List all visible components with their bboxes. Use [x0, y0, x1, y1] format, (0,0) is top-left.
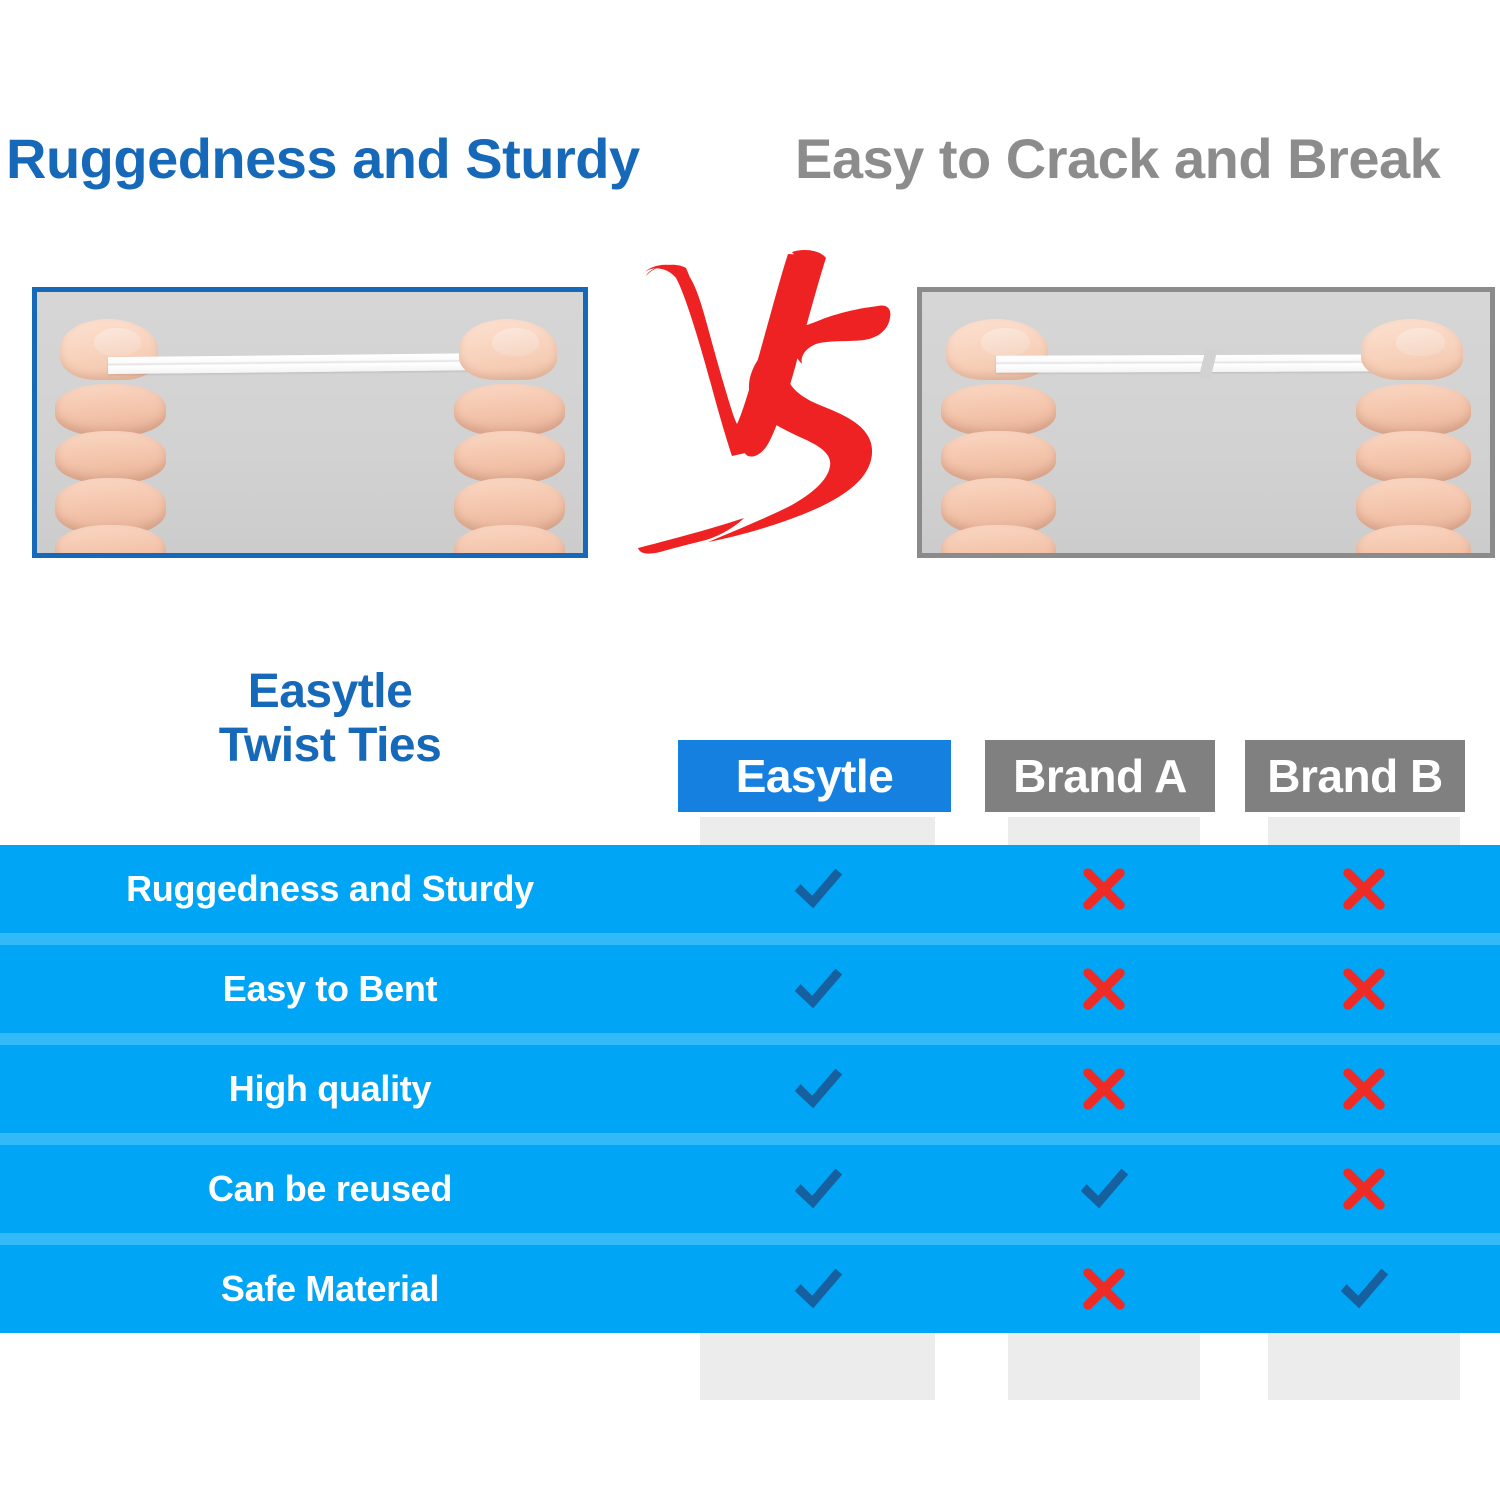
cross-icon-brand-b	[1268, 845, 1460, 933]
check-icon-brand-a	[1008, 1145, 1200, 1233]
cross-icon-brand-b	[1268, 1145, 1460, 1233]
cross-icon-brand-a	[1008, 845, 1200, 933]
heading-left: Ruggedness and Sturdy	[6, 126, 640, 191]
feature-label: Ruggedness and Sturdy	[0, 845, 660, 933]
comparison-infographic: Ruggedness and Sturdy Easy to Crack and …	[0, 0, 1500, 1500]
row-separator	[0, 1133, 1500, 1145]
versus-badge	[620, 248, 910, 558]
knuckle-icon	[1356, 431, 1471, 483]
check-icon-easytle	[700, 1245, 935, 1333]
comparison-table: Ruggedness and SturdyEasy to BentHigh qu…	[0, 735, 1500, 1405]
fingernail-icon	[94, 328, 141, 356]
thumb-icon	[459, 319, 557, 380]
check-icon-easytle	[700, 845, 935, 933]
fingernail-icon	[1396, 328, 1445, 356]
knuckle-icon	[941, 384, 1056, 436]
knuckle-icon	[1356, 525, 1471, 558]
knuckle-icon	[941, 431, 1056, 483]
feature-label: Easy to Bent	[0, 945, 660, 1033]
right-hand-icon	[447, 323, 573, 558]
knuckle-icon	[454, 384, 565, 436]
cross-icon-brand-a	[1008, 1045, 1200, 1133]
column-header-brand-b: Brand B	[1245, 740, 1465, 812]
knuckle-icon	[454, 431, 565, 483]
knuckle-icon	[55, 431, 166, 483]
feature-label: Can be reused	[0, 1145, 660, 1233]
cross-icon-brand-a	[1008, 1245, 1200, 1333]
check-icon-easytle	[700, 1045, 935, 1133]
cross-icon-brand-b	[1268, 945, 1460, 1033]
knuckle-icon	[1356, 384, 1471, 436]
column-header-brand-a: Brand A	[985, 740, 1215, 812]
check-icon-easytle	[700, 945, 935, 1033]
heading-right: Easy to Crack and Break	[795, 126, 1440, 191]
photo-intact-twist-tie	[32, 287, 588, 558]
feature-label: High quality	[0, 1045, 660, 1133]
column-header-easytle: Easytle	[678, 740, 951, 812]
product-title-line1: Easytle	[0, 665, 660, 719]
knuckle-icon	[55, 525, 166, 558]
row-separator	[0, 1233, 1500, 1245]
photo-broken-twist-tie	[917, 287, 1495, 558]
row-separator	[0, 1033, 1500, 1045]
check-icon-easytle	[700, 1145, 935, 1233]
check-icon-brand-b	[1268, 1245, 1460, 1333]
fingernail-icon	[492, 328, 539, 356]
knuckle-icon	[454, 525, 565, 558]
cross-icon-brand-a	[1008, 945, 1200, 1033]
thumb-icon	[1361, 319, 1463, 380]
fingernail-icon	[981, 328, 1030, 356]
right-hand-icon	[1348, 323, 1479, 558]
knuckle-icon	[941, 525, 1056, 558]
row-separator	[0, 933, 1500, 945]
cross-icon-brand-b	[1268, 1045, 1460, 1133]
knuckle-icon	[55, 384, 166, 436]
feature-label: Safe Material	[0, 1245, 660, 1333]
